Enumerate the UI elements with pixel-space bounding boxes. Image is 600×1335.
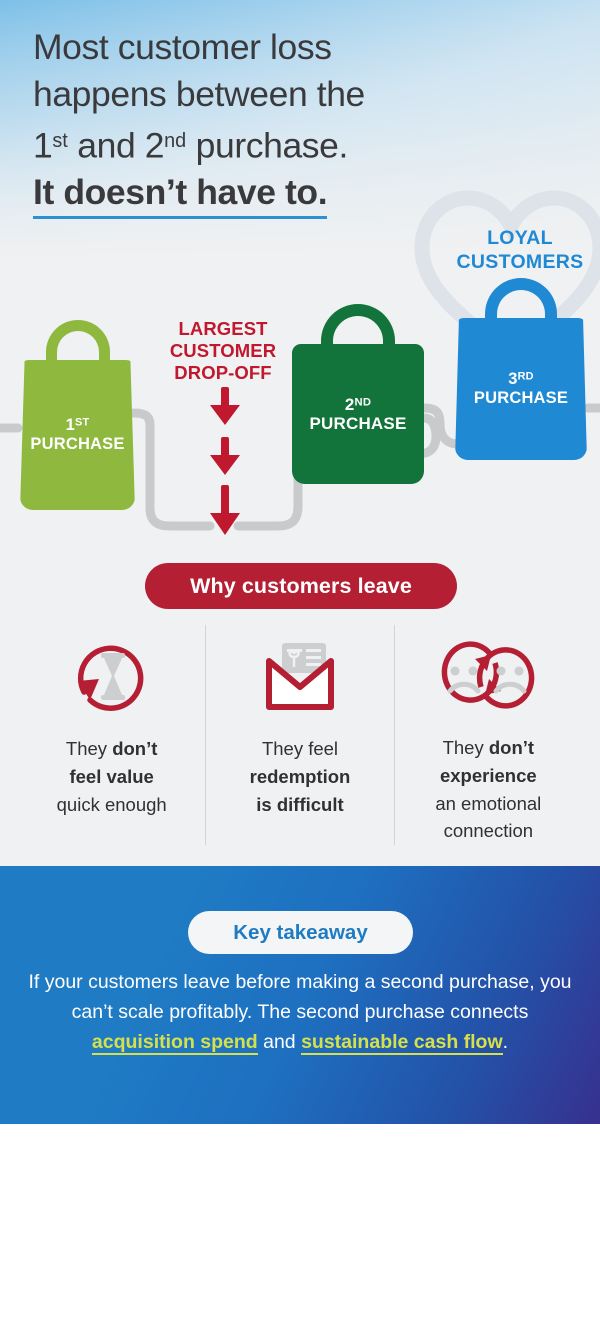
sad-faces-loop-icon bbox=[433, 629, 543, 721]
headline-emphasis: It doesn’t have to. bbox=[33, 170, 327, 219]
drop-arrow-2 bbox=[210, 437, 240, 475]
bag-purchase-word: PURCHASE bbox=[309, 414, 406, 433]
bag-body: 1ST PURCHASE bbox=[20, 360, 135, 510]
infographic-page: Most customer loss happens between the 1… bbox=[0, 0, 600, 1335]
key-takeaway-pill: Key takeaway bbox=[188, 911, 413, 954]
headline-line-4-wrapper: It doesn’t have to. bbox=[33, 169, 573, 219]
bag-third-purchase: 3RD PURCHASE bbox=[455, 278, 587, 460]
reasons-list: They don’t feel value quick enough bbox=[18, 625, 582, 845]
loyal-line-1: LOYAL bbox=[440, 227, 600, 251]
dropoff-line-1: LARGEST bbox=[153, 318, 293, 340]
ordinal-suffix-nd: nd bbox=[164, 130, 186, 152]
ordinal-suffix-st: st bbox=[52, 130, 67, 152]
kt-highlight-sustainable-cash-flow: sustainable cash flow bbox=[301, 1031, 503, 1055]
loyal-customers-label: LOYAL CUSTOMERS bbox=[440, 227, 600, 275]
dropoff-line-2: CUSTOMER bbox=[153, 340, 293, 362]
dropoff-arrows bbox=[190, 385, 260, 535]
largest-dropoff-label: LARGEST CUSTOMER DROP-OFF bbox=[153, 318, 293, 383]
sad-face-left bbox=[450, 666, 478, 691]
bag-purchase-word: PURCHASE bbox=[30, 435, 124, 454]
page-headline: Most customer loss happens between the 1… bbox=[33, 24, 573, 219]
purchase-journey-flow: LOYAL CUSTOMERS LARGEST CUSTOMER DROP-OF… bbox=[0, 170, 600, 560]
bag-label: 1ST PURCHASE bbox=[30, 416, 124, 454]
reason-item-redemption-difficult: They feel redemption is difficult bbox=[205, 625, 393, 845]
bag-body: 2ND PURCHASE bbox=[292, 344, 424, 484]
icon-container bbox=[254, 625, 346, 725]
bag-second-purchase: 2ND PURCHASE bbox=[292, 304, 424, 484]
reason-item-no-emotional-connection: They don’t experience an emotional conne… bbox=[394, 625, 582, 845]
headline-line-2: happens between the bbox=[33, 71, 573, 118]
bag-label: 3RD PURCHASE bbox=[474, 370, 568, 408]
key-takeaway-body: If your customers leave before making a … bbox=[22, 967, 578, 1057]
bag-ordinal-line: 1ST bbox=[30, 416, 124, 435]
headline-line-1: Most customer loss bbox=[33, 24, 573, 71]
dropoff-line-3: DROP-OFF bbox=[153, 362, 293, 384]
footer-section: Ready to turn first purchases into repea… bbox=[0, 1124, 600, 1335]
envelope-giftcard-icon bbox=[254, 629, 346, 721]
why-customers-leave-pill: Why customers leave bbox=[145, 563, 457, 609]
kt-text-part2: and bbox=[258, 1031, 301, 1053]
bag-ordinal-line: 3RD bbox=[474, 370, 568, 389]
bag-ordinal-line: 2ND bbox=[309, 395, 406, 414]
kt-highlight-acquisition-spend: acquisition spend bbox=[92, 1031, 258, 1055]
bag-purchase-word: PURCHASE bbox=[474, 389, 568, 408]
reason-item-no-value: They don’t feel value quick enough bbox=[18, 625, 205, 845]
bag-first-purchase: 1ST PURCHASE bbox=[20, 320, 135, 510]
reason-text: They don’t feel value quick enough bbox=[51, 735, 173, 818]
icon-container bbox=[433, 625, 543, 724]
drop-arrow-1 bbox=[210, 387, 240, 425]
hourglass-refresh-icon bbox=[66, 629, 158, 721]
kt-text-part1: If your customers leave before making a … bbox=[28, 971, 571, 1023]
reason-text: They feel redemption is difficult bbox=[244, 735, 357, 818]
headline-line-3: 1st and 2nd purchase. bbox=[33, 118, 573, 169]
bag-body: 3RD PURCHASE bbox=[455, 318, 587, 460]
loyal-line-2: CUSTOMERS bbox=[440, 251, 600, 275]
kt-text-part3: . bbox=[503, 1031, 508, 1053]
icon-container bbox=[66, 625, 158, 725]
drop-arrow-3 bbox=[210, 485, 240, 535]
sad-face-right bbox=[496, 666, 524, 691]
bag-label: 2ND PURCHASE bbox=[309, 395, 406, 434]
reason-text: They don’t experience an emotional conne… bbox=[429, 734, 547, 845]
